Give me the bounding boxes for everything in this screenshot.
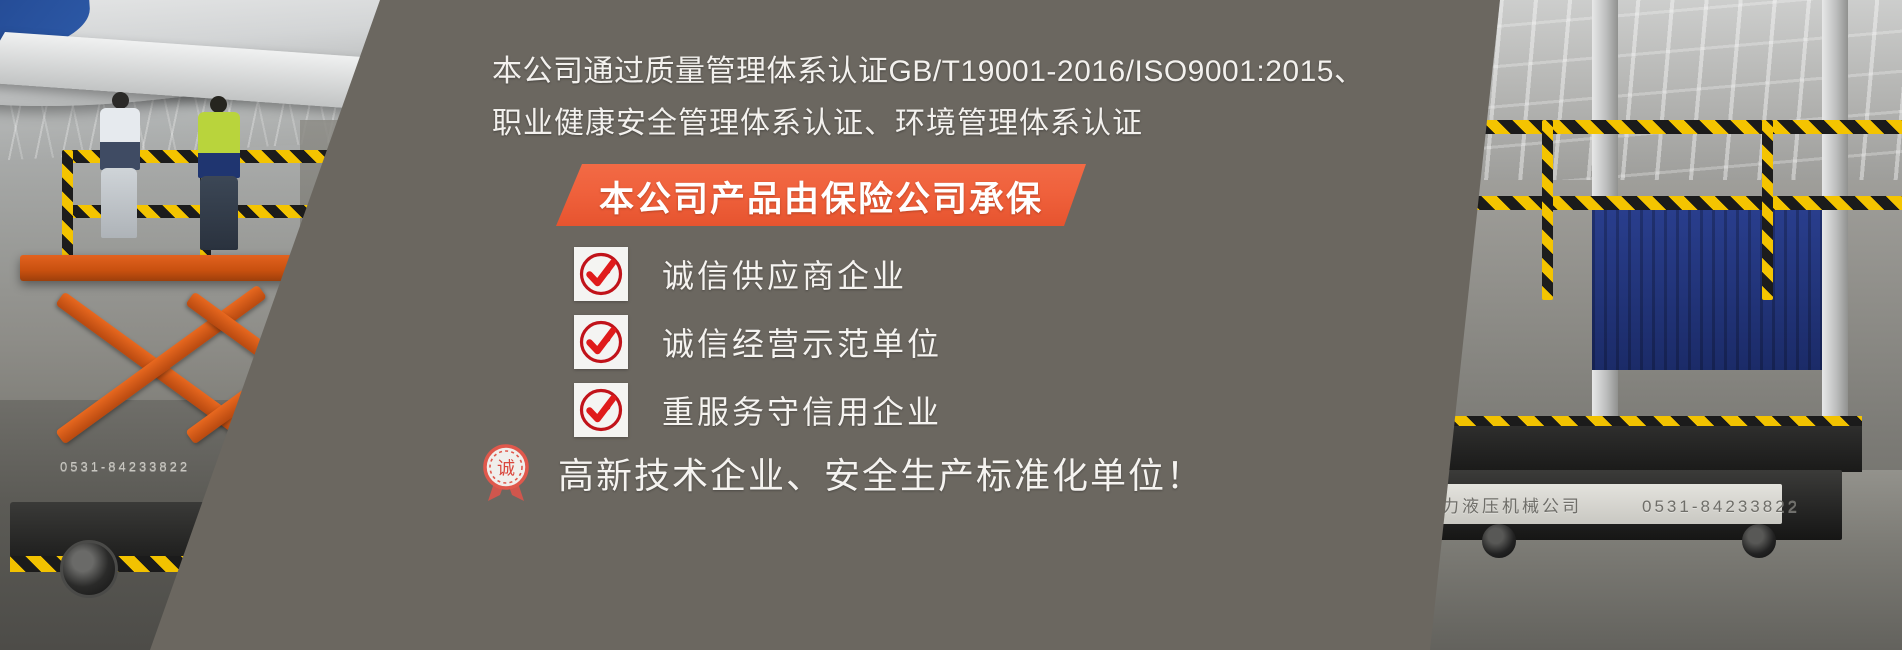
list-item: 重服务守信用企业: [574, 376, 942, 444]
check-circle-icon: [574, 383, 628, 437]
certification-headline: 本公司通过质量管理体系认证GB/T19001-2016/ISO9001:2015…: [492, 46, 1552, 150]
promo-banner: 0531-84233822 济南金力液压机械公司 0531-84233822: [0, 0, 1902, 650]
check-circle-icon: [574, 315, 628, 369]
medal-row-label: 高新技术企业、安全生产标准化单位！: [558, 447, 1204, 499]
list-item-label: 诚信供应商企业: [662, 251, 907, 297]
check-circle-icon: [574, 247, 628, 301]
medal-ribbon-icon: 诚: [470, 437, 542, 509]
medal-icon-character: 诚: [497, 459, 515, 479]
headline-line-2: 职业健康安全管理体系认证、环境管理体系认证: [492, 98, 1552, 150]
list-item: 诚信经营示范单位: [574, 308, 942, 376]
certification-medal-row: 诚 高新技术企业、安全生产标准化单位！: [470, 437, 1204, 509]
credential-checklist: 诚信供应商企业 诚信经营示范单位: [574, 240, 942, 444]
headline-line-1: 本公司通过质量管理体系认证GB/T19001-2016/ISO9001:2015…: [492, 46, 1552, 98]
list-item: 诚信供应商企业: [574, 240, 942, 308]
banner-content: 本公司通过质量管理体系认证GB/T19001-2016/ISO9001:2015…: [0, 0, 1902, 650]
insurance-ribbon-label: 本公司产品由保险公司承保: [556, 166, 1086, 226]
list-item-label: 诚信经营示范单位: [662, 319, 942, 365]
list-item-label: 重服务守信用企业: [662, 387, 942, 433]
